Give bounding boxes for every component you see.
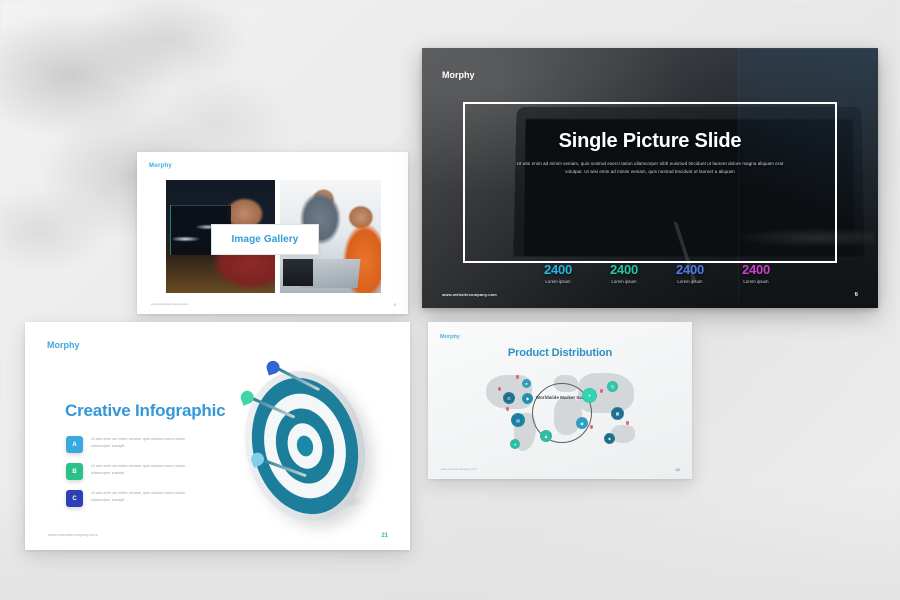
world-map-illustration: Worldwide Market Sales ● ✆ ◆ ▤ ✦ ♟ ◉ ✈ ◎… bbox=[480, 369, 650, 457]
footer-url: www.websitecompany.com bbox=[442, 292, 497, 297]
center-label: Worldwide Market Sales bbox=[535, 395, 589, 402]
footer-page-number: 22 bbox=[676, 467, 680, 472]
map-node-icon[interactable]: ✦ bbox=[510, 439, 520, 449]
footer-url: www.websitecompany.com bbox=[151, 302, 189, 306]
item-text: Ut wisi enim ad minim veniam, quis nostr… bbox=[91, 463, 196, 477]
map-node-icon[interactable]: ◉ bbox=[576, 417, 588, 429]
slide-brand-logo: Morphy bbox=[440, 334, 460, 340]
slide-title: Creative Infographic bbox=[65, 401, 225, 421]
gallery-label-box: Image Gallery bbox=[211, 224, 319, 255]
item-badge-b: B bbox=[66, 463, 83, 480]
map-node-icon[interactable]: ✈ bbox=[582, 388, 597, 403]
map-node-icon[interactable]: ◎ bbox=[607, 381, 618, 392]
stat-caption: Lorem ipsum bbox=[723, 279, 789, 284]
infographic-item-list: A Ut wisi enim ad minim veniam, quis nos… bbox=[66, 436, 196, 517]
stat-caption: Lorem ipsum bbox=[657, 279, 723, 284]
slide-brand-logo: Morphy bbox=[47, 340, 80, 350]
stat-item: 2400 Lorem ipsum bbox=[657, 262, 723, 284]
slide-brand-logo: Morphy bbox=[149, 163, 172, 169]
list-item: C Ut wisi enim ad minim veniam, quis nos… bbox=[66, 490, 196, 507]
slide-title: Product Distribution bbox=[428, 347, 692, 359]
list-item: A Ut wisi enim ad minim veniam, quis nos… bbox=[66, 436, 196, 453]
stat-value: 2400 bbox=[657, 262, 723, 277]
list-item: B Ut wisi enim ad minim veniam, quis nos… bbox=[66, 463, 196, 480]
item-badge-c: C bbox=[66, 490, 83, 507]
item-text: Ut wisi enim ad minim veniam, quis nostr… bbox=[91, 490, 196, 504]
slide-brand-logo: Morphy bbox=[442, 70, 475, 80]
slide-creative-infographic[interactable]: Morphy Creative Infographic A Ut wisi en… bbox=[25, 322, 410, 550]
slide-single-picture[interactable]: Morphy Single Picture Slide Ut wisi enim… bbox=[422, 48, 878, 308]
gallery-label-text: Image Gallery bbox=[232, 234, 299, 245]
slide-body-text: Ut wisi enim ad minim veniam, quis nostr… bbox=[514, 160, 786, 176]
map-node-icon[interactable]: ♟ bbox=[540, 430, 552, 442]
slide-title: Single Picture Slide bbox=[465, 130, 835, 153]
footer-url: www.websitecompany.com bbox=[441, 467, 477, 471]
stat-value: 2400 bbox=[525, 262, 591, 277]
stat-caption: Lorem ipsum bbox=[591, 279, 657, 284]
slide-product-distribution[interactable]: Morphy Product Distribution Worldwide Ma… bbox=[428, 322, 692, 479]
item-badge-a: A bbox=[66, 436, 83, 453]
white-border-frame: Single Picture Slide Ut wisi enim ad min… bbox=[463, 102, 837, 263]
footer-url: www.websitecompany.com bbox=[48, 532, 98, 537]
item-text: Ut wisi enim ad minim veniam, quis nostr… bbox=[91, 436, 196, 450]
stats-row: 2400 Lorem ipsum 2400 Lorem ipsum 2400 L… bbox=[525, 262, 789, 284]
footer-page-number: 6 bbox=[855, 292, 858, 298]
map-node-icon[interactable]: ▤ bbox=[511, 413, 525, 427]
dartboard-illustration bbox=[210, 348, 400, 528]
slide-image-gallery[interactable]: Morphy Image Gallery www.websitecompany.… bbox=[137, 152, 408, 314]
stat-item: 2400 Lorem ipsum bbox=[591, 262, 657, 284]
footer-page-number: 5 bbox=[394, 302, 396, 307]
map-node-icon[interactable]: ✆ bbox=[503, 392, 515, 404]
map-node-icon[interactable]: ▦ bbox=[611, 407, 624, 420]
map-node-icon[interactable]: ● bbox=[522, 379, 531, 388]
stat-value: 2400 bbox=[723, 262, 789, 277]
stat-item: 2400 Lorem ipsum bbox=[525, 262, 591, 284]
dart-fletching bbox=[265, 359, 281, 375]
stat-caption: Lorem ipsum bbox=[525, 279, 591, 284]
footer-page-number: 21 bbox=[381, 533, 388, 539]
dark-slide-content: Single Picture Slide Ut wisi enim ad min… bbox=[465, 130, 835, 176]
stat-item: 2400 Lorem ipsum bbox=[723, 262, 789, 284]
map-node-icon[interactable]: ◈ bbox=[604, 433, 615, 444]
map-node-icon[interactable]: ◆ bbox=[522, 393, 533, 404]
stat-value: 2400 bbox=[591, 262, 657, 277]
